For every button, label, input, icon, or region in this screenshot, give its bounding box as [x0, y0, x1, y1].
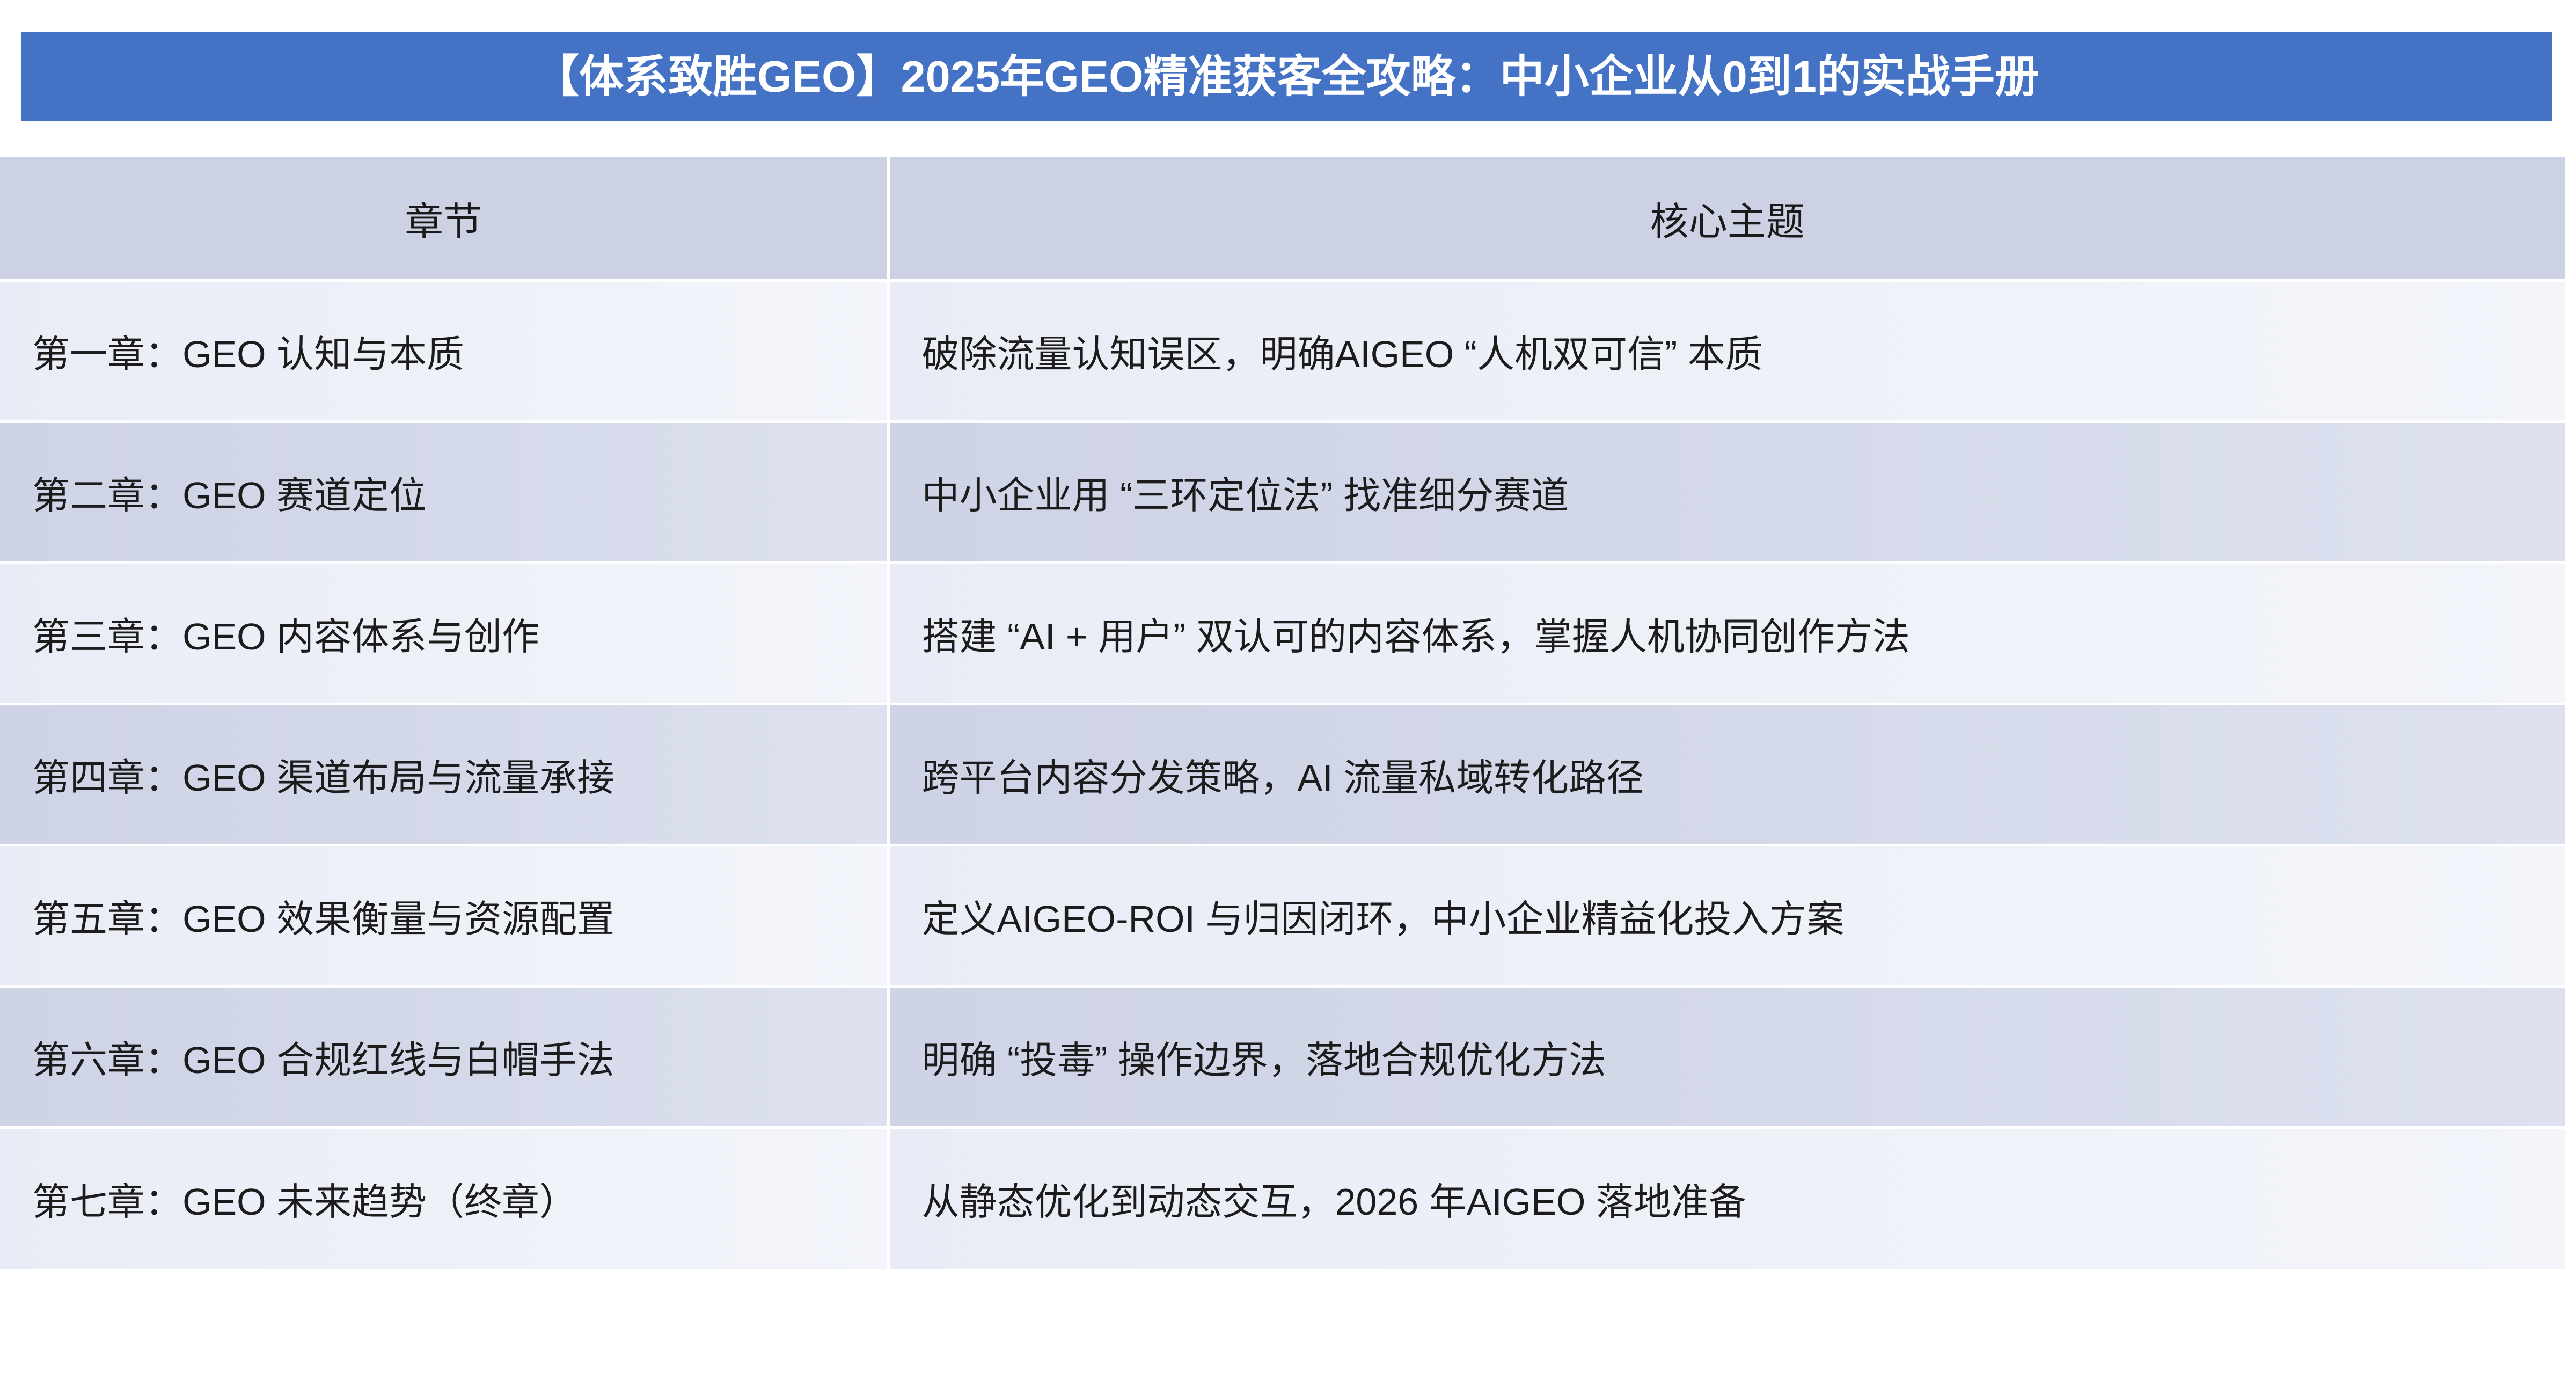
document-title-bar: 【体系致胜GEO】2025年GEO精准获客全攻略：中小企业从0到1的实战手册 [21, 32, 2552, 121]
column-header-chapter: 章节 [0, 157, 888, 281]
cell-chapter: 第一章：GEO 认知与本质 [0, 281, 888, 422]
table-row: 第六章：GEO 合规红线与白帽手法 明确 “投毒” 操作边界，落地合规优化方法 [0, 987, 2565, 1128]
table-row: 第三章：GEO 内容体系与创作 搭建 “AI + 用户” 双认可的内容体系，掌握… [0, 563, 2565, 704]
table-row: 第一章：GEO 认知与本质 破除流量认知误区，明确AIGEO “人机双可信” 本… [0, 281, 2565, 422]
cell-chapter: 第四章：GEO 渠道布局与流量承接 [0, 704, 888, 845]
table-row: 第五章：GEO 效果衡量与资源配置 定义AIGEO-ROI 与归因闭环，中小企业… [0, 845, 2565, 987]
table-row: 第七章：GEO 未来趋势（终章） 从静态优化到动态交互，2026 年AIGEO … [0, 1128, 2565, 1269]
cell-topic: 搭建 “AI + 用户” 双认可的内容体系，掌握人机协同创作方法 [888, 563, 2565, 704]
cell-chapter: 第三章：GEO 内容体系与创作 [0, 563, 888, 704]
chapter-overview-table: 章节 核心主题 第一章：GEO 认知与本质 破除流量认知误区，明确AIGEO “… [0, 157, 2565, 1269]
table-header-row: 章节 核心主题 [0, 157, 2565, 281]
page-title: 【体系致胜GEO】2025年GEO精准获客全攻略：中小企业从0到1的实战手册 [535, 54, 2039, 99]
cell-chapter: 第二章：GEO 赛道定位 [0, 422, 888, 563]
bottom-margin [0, 1382, 2576, 1394]
cell-chapter: 第五章：GEO 效果衡量与资源配置 [0, 845, 888, 987]
cell-topic: 跨平台内容分发策略，AI 流量私域转化路径 [888, 704, 2565, 845]
cell-topic: 破除流量认知误区，明确AIGEO “人机双可信” 本质 [888, 281, 2565, 422]
cell-topic: 中小企业用 “三环定位法” 找准细分赛道 [888, 422, 2565, 563]
cell-chapter: 第七章：GEO 未来趋势（终章） [0, 1128, 888, 1269]
table-row: 第四章：GEO 渠道布局与流量承接 跨平台内容分发策略，AI 流量私域转化路径 [0, 704, 2565, 845]
cell-topic: 从静态优化到动态交互，2026 年AIGEO 落地准备 [888, 1128, 2565, 1269]
document-page: 【体系致胜GEO】2025年GEO精准获客全攻略：中小企业从0到1的实战手册 章… [0, 0, 2576, 1394]
cell-topic: 定义AIGEO-ROI 与归因闭环，中小企业精益化投入方案 [888, 845, 2565, 987]
table-row: 第二章：GEO 赛道定位 中小企业用 “三环定位法” 找准细分赛道 [0, 422, 2565, 563]
column-header-topic: 核心主题 [888, 157, 2565, 281]
cell-topic: 明确 “投毒” 操作边界，落地合规优化方法 [888, 987, 2565, 1128]
cell-chapter: 第六章：GEO 合规红线与白帽手法 [0, 987, 888, 1128]
